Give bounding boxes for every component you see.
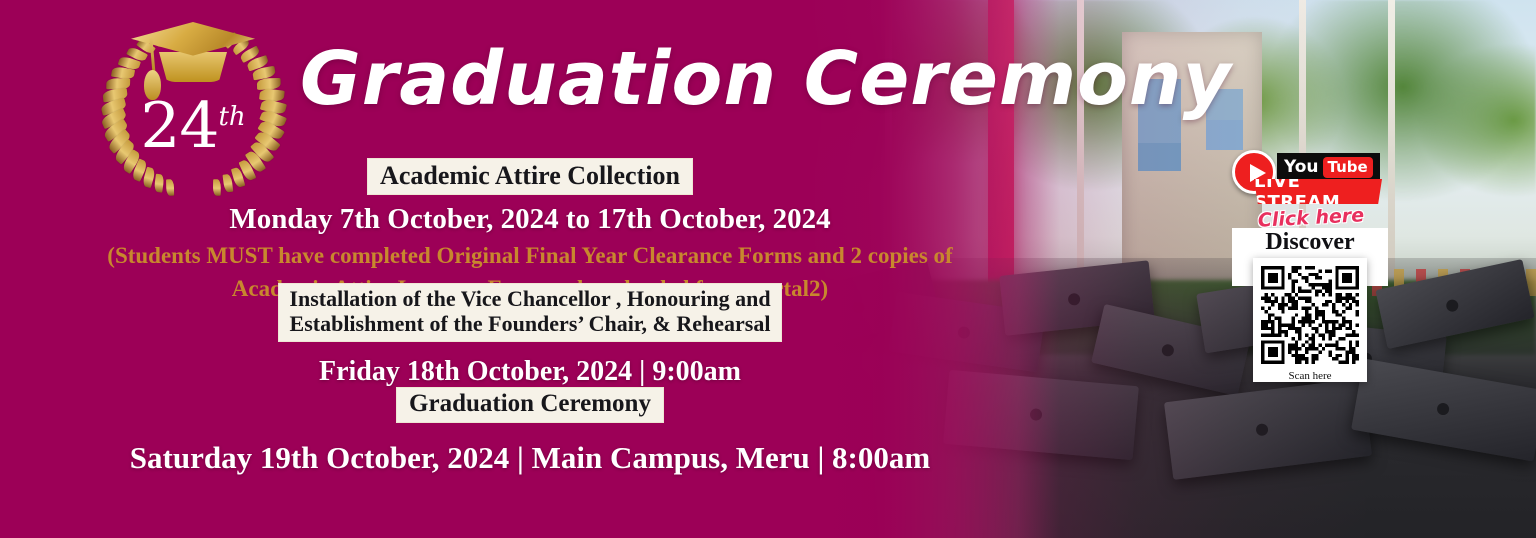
section-graduation-ceremony: Graduation Ceremony Saturday 19th Octobe…	[0, 387, 1060, 476]
cap-cup	[159, 52, 227, 82]
ordinal-number: 24th	[98, 94, 288, 157]
graduation-date: Saturday 19th October, 2024 | Main Campu…	[0, 440, 1060, 476]
qr-scan-label: Scan here	[1261, 370, 1359, 382]
attire-date: Monday 7th October, 2024 to 17th October…	[0, 203, 1060, 236]
graduation-cap-icon	[131, 22, 255, 88]
youtube-you-text: You	[1284, 157, 1319, 177]
installation-date: Friday 18th October, 2024 | 9:00am	[0, 356, 1060, 388]
graduation-heading-tag: Graduation Ceremony	[396, 387, 664, 423]
ordinal-suffix: th	[218, 102, 245, 132]
qr-code-icon[interactable]	[1261, 266, 1359, 364]
youtube-wordmark: You Tube	[1277, 153, 1380, 181]
installation-heading-tag: Installation of the Vice Chancellor , Ho…	[278, 283, 781, 342]
youtube-livestream-badge[interactable]: You Tube LIVE STREAM	[1232, 148, 1384, 208]
youtube-tube-text: Tube	[1323, 157, 1373, 178]
attire-note-line-1: (Students MUST have completed Original F…	[0, 242, 1060, 269]
section-installation: Installation of the Vice Chancellor , Ho…	[0, 283, 1060, 388]
installation-tag-line-2: Establishment of the Founders’ Chair, & …	[290, 311, 771, 336]
graduation-banner: 24th Graduation Ceremony Academic Attire…	[0, 0, 1536, 538]
page-title: Graduation Ceremony	[300, 42, 980, 116]
live-stream-label: LIVE STREAM	[1254, 179, 1382, 204]
installation-tag-line-1: Installation of the Vice Chancellor , Ho…	[289, 286, 770, 311]
ordinal-value: 24	[140, 89, 218, 162]
attire-heading-tag: Academic Attire Collection	[367, 158, 693, 195]
section-academic-attire: Academic Attire Collection Monday 7th Oc…	[0, 158, 1060, 302]
qr-code-card[interactable]: Scan here	[1253, 258, 1367, 382]
